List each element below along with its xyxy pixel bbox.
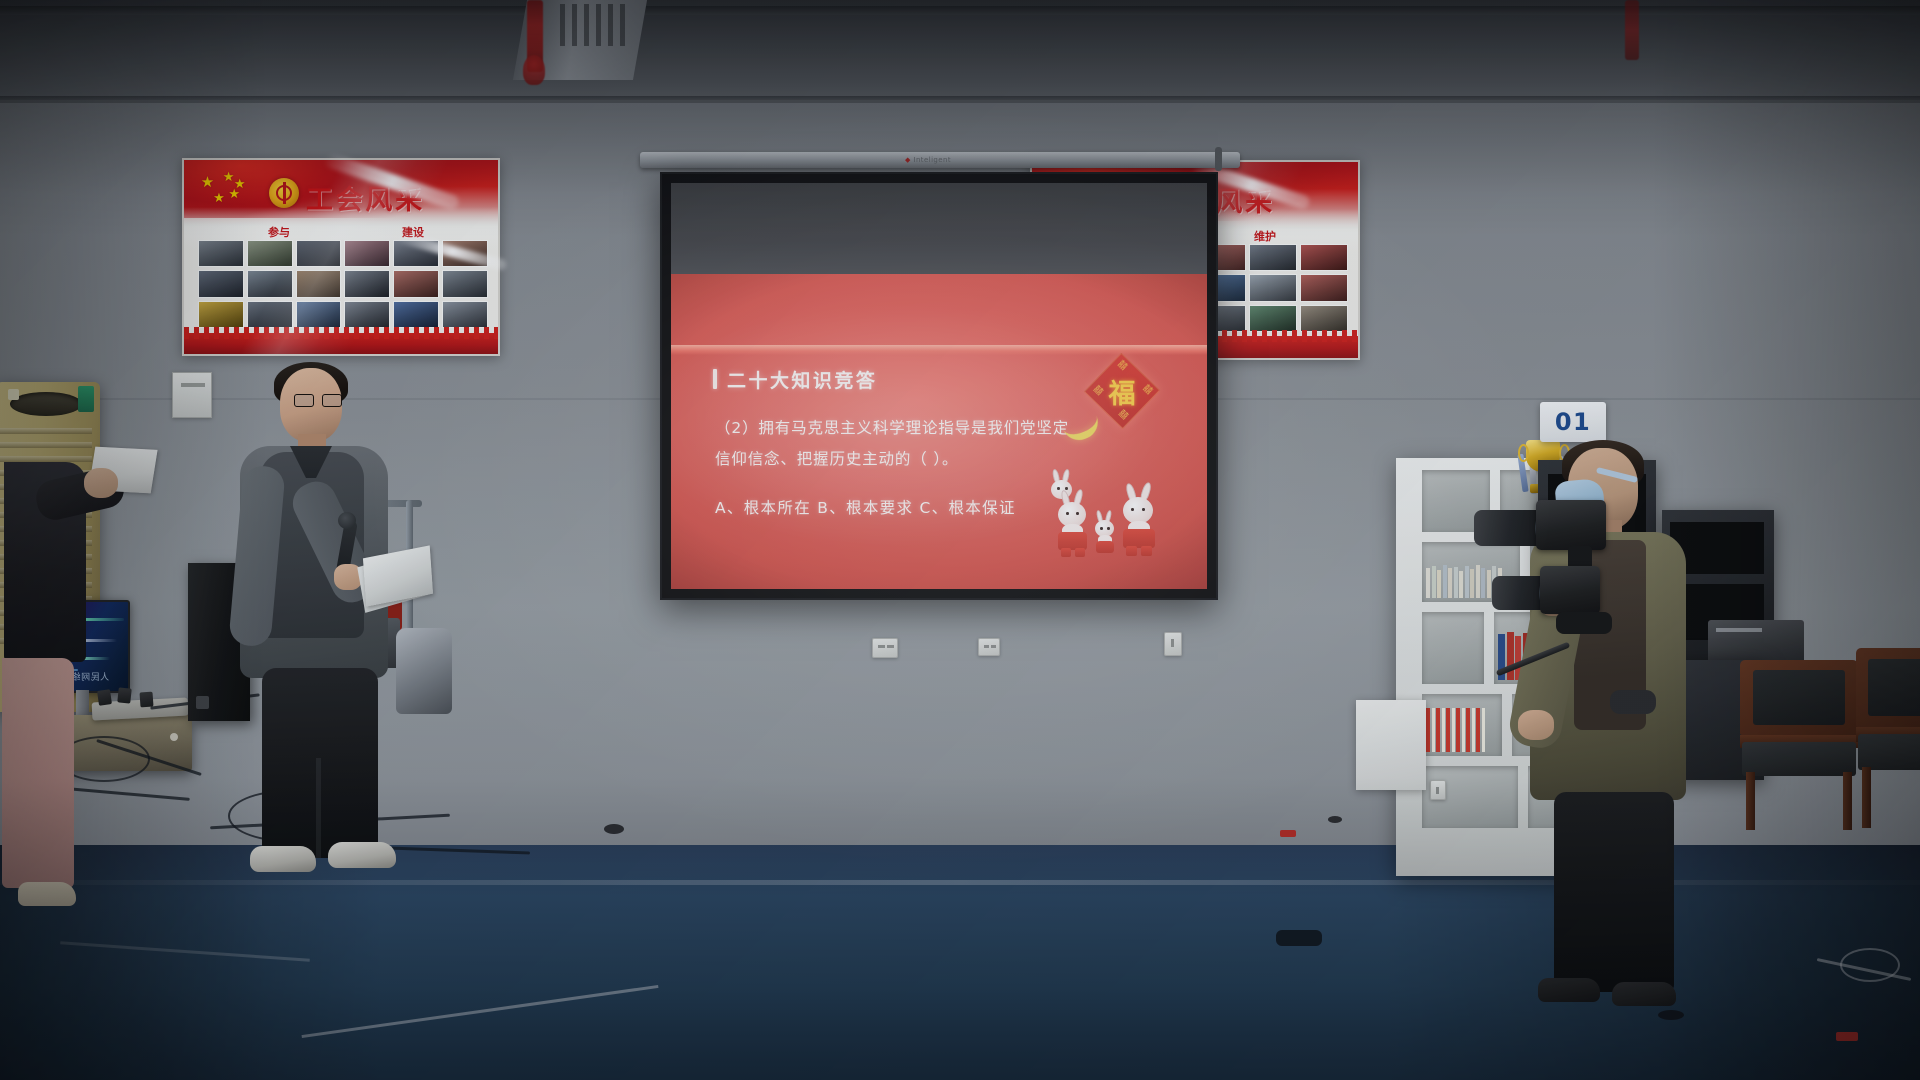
photo [198,240,244,267]
photo [344,270,390,297]
speaker-port [196,696,209,709]
photo [247,270,293,297]
photo [1300,244,1348,271]
red-ceiling-decoration-tassel [523,55,545,85]
photo [442,270,488,297]
slide-answers: A、根本所在 B、根本要求 C、根本保证 [715,496,1016,518]
projector-hot-edge [671,345,1207,354]
wall-socket-center[interactable] [872,638,898,658]
photo [393,270,439,297]
floor-debris [604,824,624,834]
chair-right[interactable] [1856,648,1920,828]
cameraman-hand-lower [1518,710,1554,740]
photo [296,240,342,267]
meeting-room-scene: ★ ★ ★ ★ ★ 工会风采 参与 建设 [0,0,1920,1080]
photo [247,240,293,267]
white-cable-loop [1840,948,1900,982]
projection-screen-housing[interactable]: ◆ Inteligent [640,152,1240,168]
photo [1300,274,1348,301]
slide-heading-row: 二十大知识竞答 [713,366,877,393]
photo [198,270,244,297]
projection-screen[interactable]: 二十大知识竞答 （2）拥有马克思主义科学理论指导是我们党坚定 信仰信念、把握历史… [660,172,1218,600]
floor-debris [1658,1010,1684,1020]
photo [344,240,390,267]
floor-debris [1276,930,1322,946]
participant-legs [2,658,74,888]
camera-strap-clip [1610,690,1656,714]
shelf-cell [1422,612,1484,684]
microphone-head [338,512,356,529]
wall-seam-top [0,100,1920,103]
ac-sticker [78,386,94,412]
cameraman-shoe-right [1612,982,1676,1006]
photo [1249,305,1297,332]
photo [198,301,244,328]
wall-socket-right[interactable] [1164,632,1182,656]
photo [344,301,390,328]
books-row [1426,564,1502,598]
wall-socket-center-2[interactable] [978,638,1000,656]
photo [247,301,293,328]
photo [296,301,342,328]
screen-brand-label: ◆ Inteligent [905,156,951,164]
photo [393,301,439,328]
presenter-leg-seam [316,758,321,858]
slide-heading: 二十大知识竞答 [727,366,877,393]
bulletin-right-section-1: 维护 [1254,228,1276,244]
books-row-red [1426,706,1485,752]
photo [1300,305,1348,332]
slide-heading-bar-icon [713,369,717,389]
video-camera-body [1536,500,1606,550]
screen-unlit-area [671,183,1207,280]
chair-back-pad [1753,670,1845,724]
cameraman-legs [1554,792,1674,992]
union-emblem-icon [269,178,299,208]
slide-question: （2）拥有马克思主义科学理论指导是我们党坚定 信仰信念、把握历史主动的（ ）。 [715,413,1101,475]
cameraman-shoe-left [1538,978,1600,1002]
slide-question-line-1: （2）拥有马克思主义科学理论指导是我们党坚定 [715,413,1101,444]
photo [1249,244,1297,271]
person-participant-left [36,462,176,932]
presenter-shoe-left [250,846,316,872]
shelf-socket[interactable] [1430,780,1446,800]
slide-question-line-2: 信仰信念、把握历史主动的（ ）。 [715,444,1101,475]
floor-debris [1328,816,1342,823]
chair-back-pad [1868,659,1920,717]
white-storage-box [1356,700,1426,790]
glasses-icon [294,394,342,407]
rabbit-icon [1119,492,1159,556]
photo [1249,274,1297,301]
rabbit-icon [1055,498,1091,556]
duct-fins [560,4,630,44]
presenter-shoe-right [328,842,396,868]
camera-handle [1556,612,1612,634]
dslr-camera-body [1540,566,1600,614]
participant-hand [84,468,118,498]
person-presenter [216,368,446,888]
chair-front[interactable] [1740,660,1858,830]
red-ceiling-decoration-right [1625,0,1639,60]
rabbit-decorations [1045,476,1163,558]
bulletin-left-section-0: 参与 [268,224,290,240]
participant-shoe [18,882,76,906]
flag-stars: ★ ★ ★ ★ ★ [197,170,266,213]
projection-surface: 二十大知识竞答 （2）拥有马克思主义科学理论指导是我们党坚定 信仰信念、把握历史… [671,183,1207,589]
floor-red-object [1280,830,1296,837]
projected-slide: 二十大知识竞答 （2）拥有马克思主义科学理论指导是我们党坚定 信仰信念、把握历史… [671,274,1207,589]
screen-hook [1215,147,1222,171]
floor-red-object [1836,1032,1858,1041]
wall-switch-panel[interactable] [172,372,212,418]
photo [442,301,488,328]
chair-seat [1858,734,1920,770]
ac-badge [8,389,19,400]
rabbit-icon [1093,516,1117,556]
shelf-cell [1422,694,1502,756]
number-sign: 01 [1540,402,1606,442]
board-footer-skyline [184,333,498,354]
ac-vent [10,392,82,416]
fu-character: 福 [1109,372,1136,411]
photo [296,270,342,297]
printer-label [1716,628,1762,632]
chair-seat [1742,742,1855,776]
